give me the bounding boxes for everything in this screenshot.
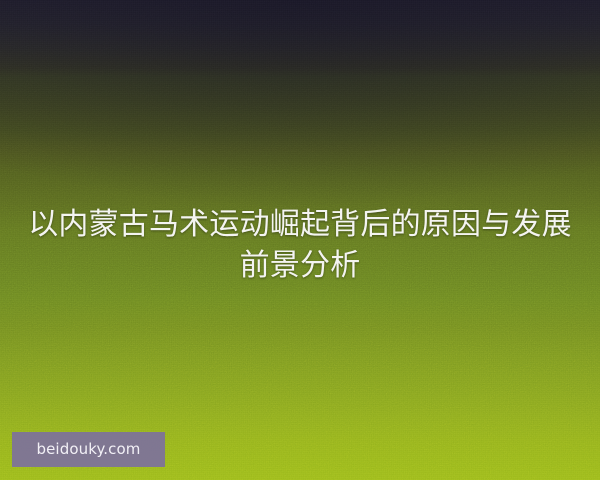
poster-canvas: 以内蒙古马术运动崛起背后的原因与发展前景分析 beidouky.com bbox=[0, 0, 600, 480]
poster-title-text: 以内蒙古马术运动崛起背后的原因与发展前景分析 bbox=[22, 204, 578, 286]
watermark-badge: beidouky.com bbox=[12, 432, 165, 467]
poster-title: 以内蒙古马术运动崛起背后的原因与发展前景分析 bbox=[0, 204, 600, 286]
watermark-label: beidouky.com bbox=[36, 442, 140, 457]
